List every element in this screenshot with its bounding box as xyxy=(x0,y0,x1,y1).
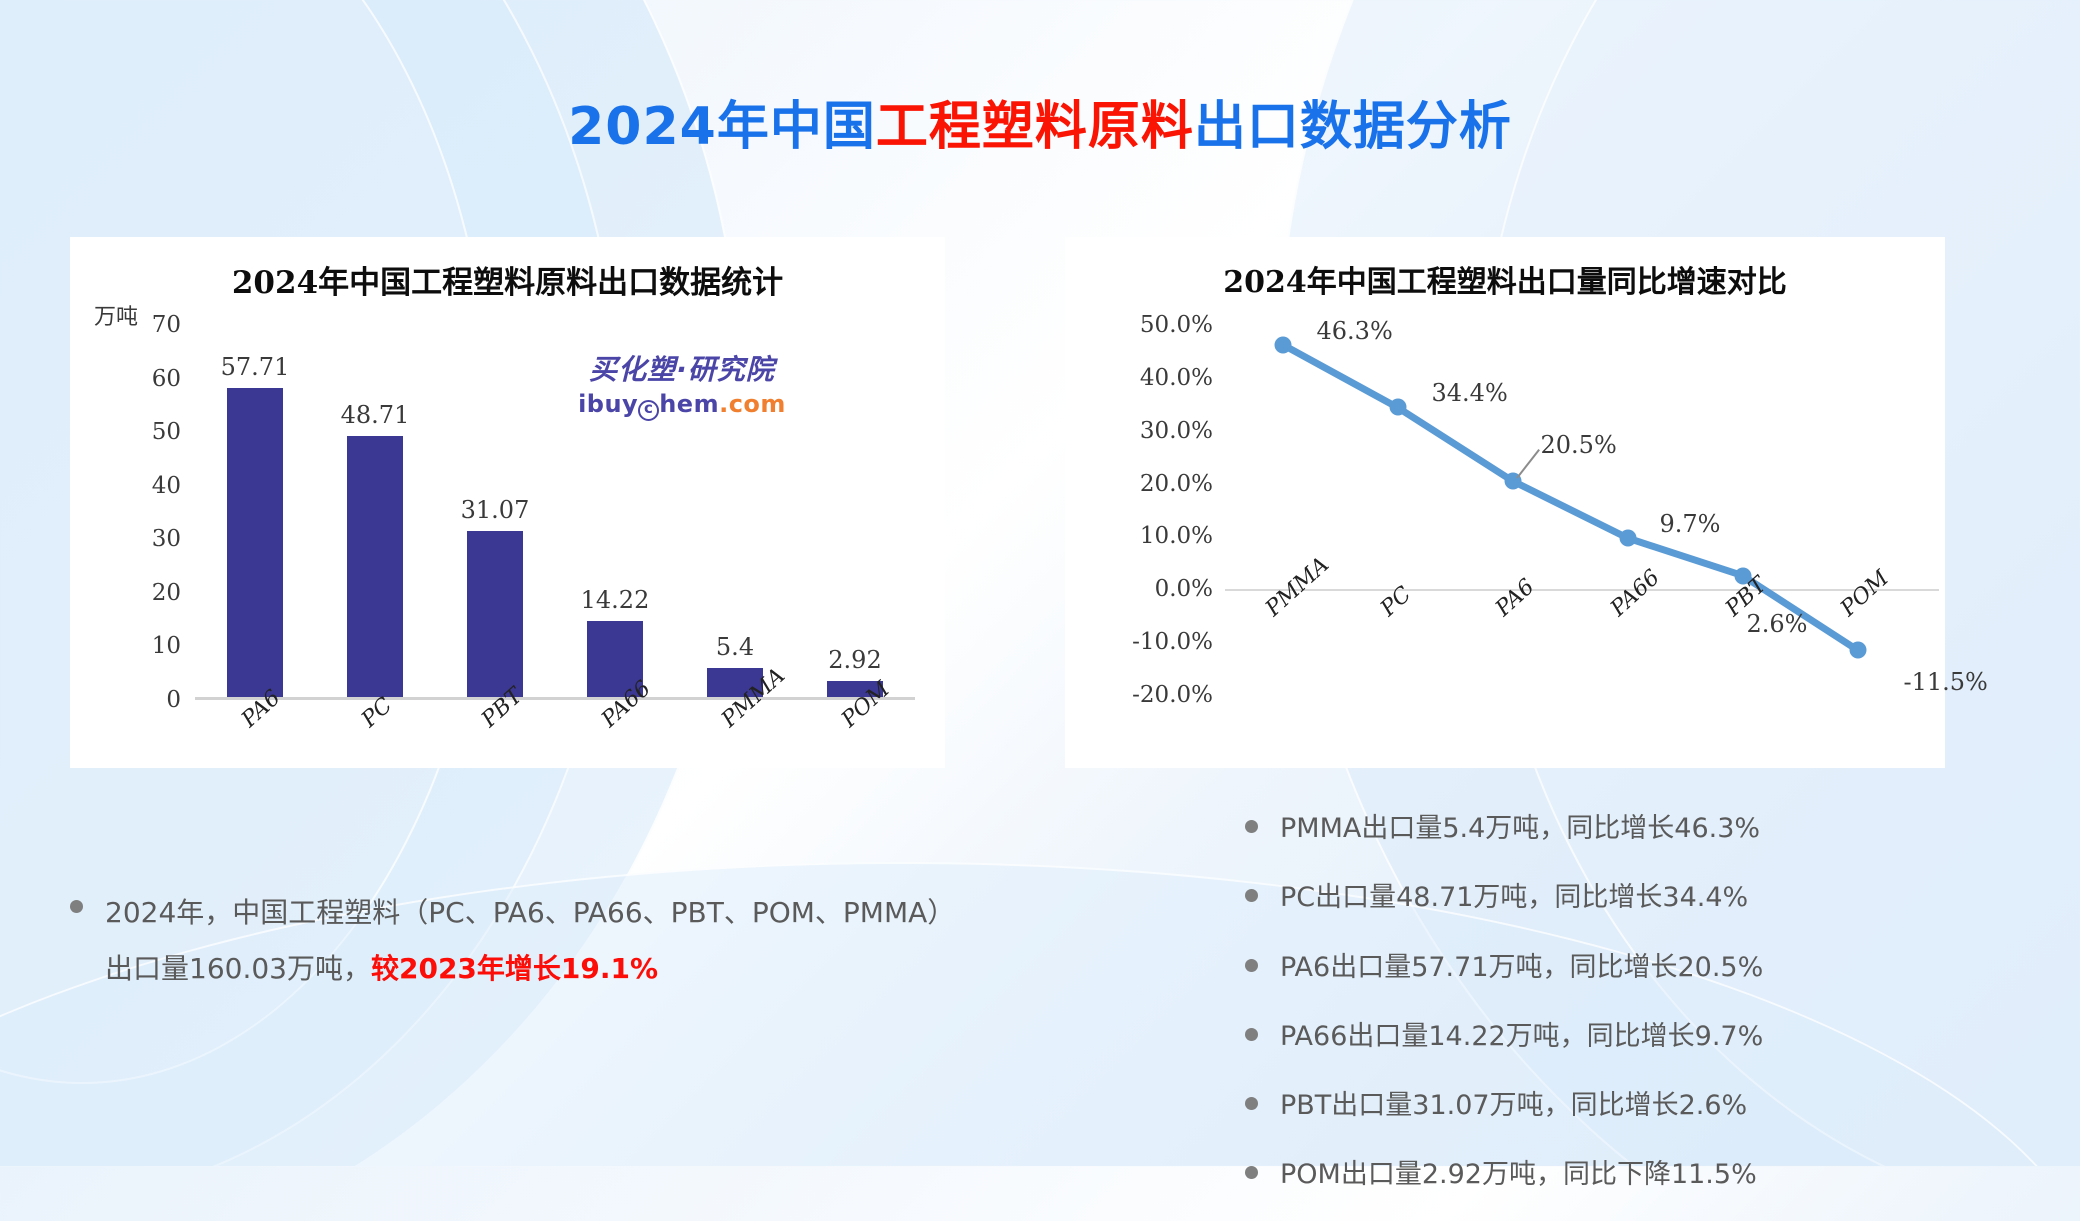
line-point-POM xyxy=(1849,642,1866,659)
line-chart-title: 2024年中国工程塑料出口量同比增速对比 xyxy=(1065,257,1945,301)
list-item: PC出口量48.71万吨，同比增长34.4% xyxy=(1245,874,2035,921)
bar-value-label: 31.07 xyxy=(461,496,530,524)
line-chart-y-tick: 40.0% xyxy=(1113,365,1213,391)
bullet-dot-icon xyxy=(1245,1028,1258,1041)
bar-chart-y-tick: 40 xyxy=(125,473,181,499)
watermark-domain: ibuychem.com xyxy=(567,390,797,421)
bullet-line-2: 出口量160.03万吨，较2023年增长19.1% xyxy=(105,941,955,997)
page-title: 2024年中国工程塑料原料出口数据分析 xyxy=(0,84,2080,159)
line-chart-series xyxy=(1225,325,1915,695)
title-part-1: 2024年中国 xyxy=(568,97,876,157)
watermark-tld: .com xyxy=(719,390,786,418)
bullet-text: PC出口量48.71万吨，同比增长34.4% xyxy=(1280,874,1748,921)
watermark-en-pre: ibuy xyxy=(578,390,638,418)
bar-value-label: 14.22 xyxy=(581,586,650,614)
line-value-label: 9.7% xyxy=(1660,510,1721,538)
line-path xyxy=(1283,345,1858,651)
line-chart-y-tick: 10.0% xyxy=(1113,523,1213,549)
line-chart-card: 2024年中国工程塑料出口量同比增速对比 50.0%40.0%30.0%20.0… xyxy=(1065,237,1945,768)
line-value-label: 46.3% xyxy=(1317,317,1393,345)
list-item: PMMA出口量5.4万吨，同比增长46.3% xyxy=(1245,805,2035,852)
line-value-label: 34.4% xyxy=(1432,379,1508,407)
bullet-dot-icon xyxy=(1245,959,1258,972)
bar-chart-y-tick: 70 xyxy=(125,312,181,338)
list-item: PA66出口量14.22万吨，同比增长9.7% xyxy=(1245,1013,2035,1060)
line-chart-y-tick: -10.0% xyxy=(1113,629,1213,655)
bullet-dot-icon xyxy=(1245,889,1258,902)
line-point-PMMA xyxy=(1274,336,1291,353)
watermark-logo: 买化塑·研究院 ibuychem.com xyxy=(567,355,797,421)
line-chart-plot-area xyxy=(1225,325,1915,695)
bar-chart-y-tick: 0 xyxy=(125,687,181,713)
bullet-text: PMMA出口量5.4万吨，同比增长46.3% xyxy=(1280,805,1760,852)
slide-canvas: 2024年中国工程塑料原料出口数据分析 2024年中国工程塑料原料出口数据统计 … xyxy=(0,0,2080,1166)
bar-chart-y-tick: 60 xyxy=(125,366,181,392)
bullet-line-2-plain: 出口量160.03万吨， xyxy=(105,952,371,985)
line-chart-y-tick: -20.0% xyxy=(1113,682,1213,708)
bar-chart-y-tick: 50 xyxy=(125,419,181,445)
bar-chart-plot-area xyxy=(195,325,915,700)
bar-chart-y-tick: 10 xyxy=(125,633,181,659)
bullet-dot-icon xyxy=(1245,820,1258,833)
bar-value-label: 5.4 xyxy=(716,633,754,661)
bar-chart-title: 2024年中国工程塑料原料出口数据统计 xyxy=(70,257,945,302)
line-chart-y-tick: 50.0% xyxy=(1113,312,1213,338)
list-item: PBT出口量31.07万吨，同比增长2.6% xyxy=(1245,1082,2035,1129)
title-part-2: 工程塑料原料 xyxy=(876,97,1194,157)
summary-bullets-left: 2024年，中国工程塑料（PC、PA6、PA66、PBT、POM、PMMA） 出… xyxy=(70,885,970,997)
bullet-text: PA6出口量57.71万吨，同比增长20.5% xyxy=(1280,944,1763,991)
line-chart-y-tick: 30.0% xyxy=(1113,418,1213,444)
bar-chart-card: 2024年中国工程塑料原料出口数据统计 万吨 买化塑·研究院 ibuychem.… xyxy=(70,237,945,768)
watermark-en-mid: hem xyxy=(659,390,719,418)
line-chart-y-tick: 20.0% xyxy=(1113,471,1213,497)
bar-PA6 xyxy=(227,388,283,697)
bar-value-label: 48.71 xyxy=(341,401,410,429)
bullet-text: PBT出口量31.07万吨，同比增长2.6% xyxy=(1280,1082,1747,1129)
line-point-PC xyxy=(1389,399,1406,416)
summary-bullets-right: PMMA出口量5.4万吨，同比增长46.3%PC出口量48.71万吨，同比增长3… xyxy=(1245,805,2035,1221)
watermark-cn-text: 买化塑·研究院 xyxy=(567,355,797,386)
bar-value-label: 57.71 xyxy=(221,353,290,381)
bullet-text: POM出口量2.92万吨，同比下降11.5% xyxy=(1280,1151,1757,1198)
bullet-dot-icon xyxy=(1245,1166,1258,1179)
line-value-label: 20.5% xyxy=(1541,431,1617,459)
bar-PC xyxy=(347,436,403,697)
list-item: PA6出口量57.71万吨，同比增长20.5% xyxy=(1245,944,2035,991)
bullet-dot-icon xyxy=(70,900,83,913)
bullet-line-2-highlight: 较2023年增长19.1% xyxy=(371,952,658,985)
title-part-3: 出口数据分析 xyxy=(1194,97,1512,157)
bullet-line-1: 2024年，中国工程塑料（PC、PA6、PA66、PBT、POM、PMMA） xyxy=(105,885,955,941)
watermark-c-ring: c xyxy=(638,400,659,421)
bar-chart-y-tick: 20 xyxy=(125,580,181,606)
bar-chart-baseline xyxy=(195,697,915,700)
bullet-dot-icon xyxy=(1245,1097,1258,1110)
bar-value-label: 2.92 xyxy=(828,646,881,674)
bullet-text: 2024年，中国工程塑料（PC、PA6、PA66、PBT、POM、PMMA） 出… xyxy=(105,885,955,997)
bar-PBT xyxy=(467,531,523,697)
line-chart-y-tick: 0.0% xyxy=(1113,576,1213,602)
bullet-text: PA66出口量14.22万吨，同比增长9.7% xyxy=(1280,1013,1763,1060)
list-item: POM出口量2.92万吨，同比下降11.5% xyxy=(1245,1151,2035,1198)
line-value-label: 2.6% xyxy=(1747,610,1808,638)
bar-chart-y-tick: 30 xyxy=(125,526,181,552)
line-value-label: -11.5% xyxy=(1904,668,1988,696)
line-point-PA66 xyxy=(1619,530,1636,547)
list-item: 2024年，中国工程塑料（PC、PA6、PA66、PBT、POM、PMMA） 出… xyxy=(70,885,970,997)
